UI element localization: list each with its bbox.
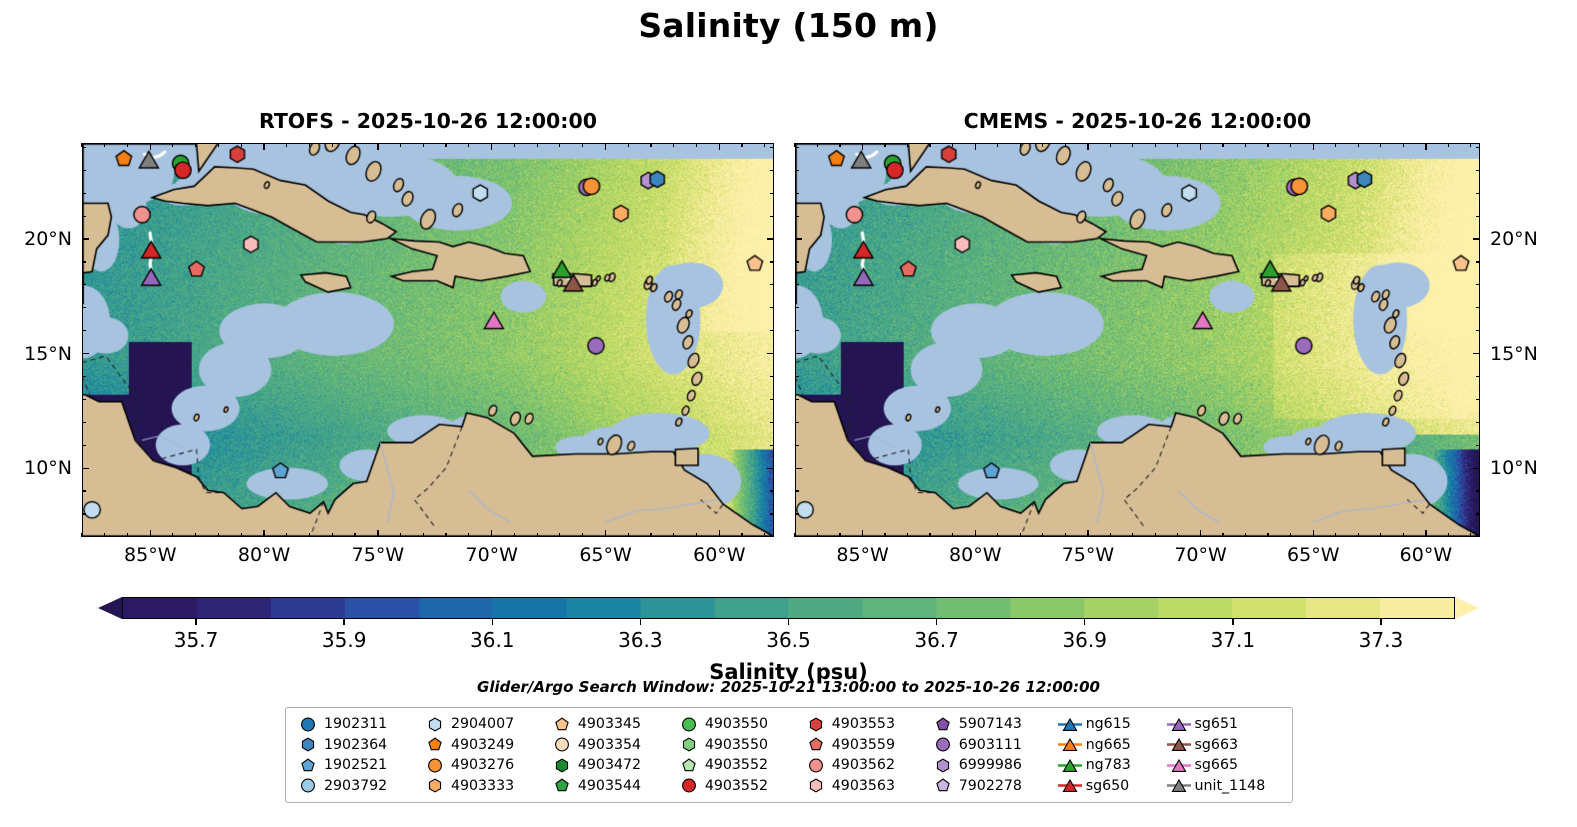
ytick-left	[795, 536, 799, 537]
xtick-label: 85°W	[836, 544, 888, 566]
legend-item[interactable]: 4903544	[549, 776, 659, 797]
colorbar-tick	[1380, 619, 1381, 625]
legend-item-label: 6903111	[956, 737, 1022, 753]
xtick-top	[172, 143, 173, 147]
circle-marker-icon	[422, 756, 448, 775]
legend-item[interactable]: 4903550	[676, 735, 786, 756]
legend-item[interactable]: 4903552	[676, 755, 786, 776]
hexagon-marker-icon	[422, 776, 448, 795]
legend-item[interactable]: 6999986	[930, 755, 1040, 776]
legend-item-label: 4903552	[702, 778, 768, 794]
ytick-right	[770, 330, 774, 331]
legend-item-label: 5907143	[956, 716, 1022, 732]
xtick-top	[1245, 143, 1246, 147]
circle-marker-icon	[676, 776, 702, 795]
xtick-bottom	[1290, 533, 1291, 537]
legend-item[interactable]: 4903552	[676, 776, 786, 797]
xtick-bottom	[332, 533, 333, 537]
legend-item[interactable]: 1902521	[295, 755, 405, 776]
ytick-right	[770, 536, 774, 537]
colorbar-tick	[788, 619, 789, 625]
figure-canvas: Salinity (150 m) RTOFS - 2025-10-26 12:0…	[0, 0, 1577, 827]
xtick-bottom	[1177, 533, 1178, 537]
xtick-top	[1020, 143, 1021, 147]
colorbar-under-arrow	[98, 597, 122, 619]
legend-item-label: 4903553	[829, 716, 895, 732]
legend-item[interactable]: 2903792	[295, 776, 405, 797]
xtick-top	[975, 143, 977, 150]
pentagon-marker-icon	[295, 756, 321, 775]
ytick-right	[767, 238, 774, 240]
circle-marker-icon	[803, 756, 829, 775]
xtick-top	[400, 143, 401, 147]
colorbar-tick	[343, 619, 344, 625]
ytick-right	[1476, 216, 1480, 217]
legend-item[interactable]: 7902278	[930, 776, 1040, 797]
ytick-left	[82, 422, 86, 423]
pentagon-marker-icon	[549, 715, 575, 734]
xtick-bottom	[559, 533, 560, 537]
ytick-label: 10°N	[0, 457, 72, 479]
legend-item-label: unit_1148	[1192, 778, 1266, 794]
legend-item[interactable]: 4903354	[549, 735, 659, 756]
ytick-right	[770, 513, 774, 514]
ytick-right	[1476, 399, 1480, 400]
legend-item[interactable]: 2904007	[422, 714, 532, 735]
ytick-right	[770, 193, 774, 194]
xtick-bottom	[997, 533, 998, 537]
xtick-bottom	[628, 533, 629, 537]
circle-marker-icon	[295, 715, 321, 734]
xtick-bottom	[650, 533, 651, 537]
xtick-top	[263, 143, 265, 150]
legend-item-label: 1902521	[321, 757, 387, 773]
legend-item[interactable]: 4903345	[549, 714, 659, 735]
ytick-left	[82, 307, 86, 308]
xtick-label: 60°W	[693, 544, 745, 566]
ytick-left	[795, 330, 799, 331]
triangle-marker-icon	[1166, 715, 1192, 734]
ytick-left	[82, 353, 89, 355]
ytick-left	[795, 468, 802, 470]
xtick-label: 80°W	[949, 544, 1001, 566]
legend-item[interactable]: sg665	[1166, 755, 1283, 776]
xtick-top	[839, 143, 840, 147]
legend-item-label: 7902278	[956, 778, 1022, 794]
xtick-top	[445, 143, 446, 147]
xtick-label: 75°W	[352, 544, 404, 566]
legend-item-label: sg663	[1192, 737, 1238, 753]
hexagon-marker-icon	[803, 715, 829, 734]
xtick-top	[1200, 143, 1202, 150]
legend-item-label: 1902311	[321, 716, 387, 732]
xtick-top	[1380, 143, 1381, 147]
xtick-label: 60°W	[1400, 544, 1452, 566]
legend-item[interactable]: sg650	[1057, 776, 1149, 797]
ytick-right	[1473, 468, 1480, 470]
xtick-bottom	[673, 533, 674, 537]
ytick-label: 10°N	[1490, 457, 1538, 479]
colorbar-tick	[195, 619, 196, 625]
legend-item[interactable]: 4903276	[422, 755, 532, 776]
legend-item[interactable]: 4903333	[422, 776, 532, 797]
circle-marker-icon	[549, 735, 575, 754]
xtick-top	[696, 143, 697, 147]
hexagon-marker-icon	[422, 715, 448, 734]
ytick-left	[795, 422, 799, 423]
legend-item[interactable]: ng665	[1057, 735, 1149, 756]
xtick-bottom	[582, 533, 583, 537]
legend-item[interactable]: unit_1148	[1166, 776, 1283, 797]
triangle-marker-icon	[1166, 776, 1192, 795]
legend-item-label: 4903563	[829, 778, 895, 794]
xtick-bottom	[468, 533, 469, 537]
legend-item-label: 4903562	[829, 757, 895, 773]
xtick-top	[741, 143, 742, 147]
ytick-left	[82, 445, 86, 446]
legend-item-label: 4903550	[702, 716, 768, 732]
circle-marker-icon	[930, 735, 956, 754]
colorbar-tick-label: 36.9	[1062, 628, 1107, 652]
colorbar-tick-label: 35.7	[174, 628, 219, 652]
xtick-bottom	[127, 533, 128, 537]
pentagon-marker-icon	[930, 715, 956, 734]
colorbar-tick	[1084, 619, 1085, 625]
legend-item[interactable]: 5907143	[930, 714, 1040, 735]
xtick-top	[1358, 143, 1359, 147]
colorbar-gradient	[122, 597, 1455, 619]
ytick-right	[770, 170, 774, 171]
colorbar-tick	[1232, 619, 1233, 625]
xtick-label: 65°W	[579, 544, 631, 566]
ytick-right	[770, 445, 774, 446]
legend-item[interactable]: 4903559	[803, 735, 913, 756]
xtick-top	[377, 143, 379, 150]
legend-item[interactable]: 4903562	[803, 755, 913, 776]
xtick-bottom	[218, 533, 219, 537]
legend-item-label: 6999986	[956, 757, 1022, 773]
xtick-top	[559, 143, 560, 147]
pentagon-marker-icon	[803, 735, 829, 754]
ytick-left	[82, 399, 86, 400]
panel-title-rtofs: RTOFS - 2025-10-26 12:00:00	[82, 109, 774, 133]
ytick-right	[770, 284, 774, 285]
xtick-bottom	[952, 533, 953, 537]
ytick-left	[82, 490, 86, 491]
xtick-top	[884, 143, 885, 147]
triangle-marker-icon	[1166, 735, 1192, 754]
xtick-bottom	[1042, 533, 1043, 537]
xtick-top	[1087, 143, 1089, 150]
ytick-right	[1476, 376, 1480, 377]
legend-item-label: 4903345	[575, 716, 641, 732]
legend-item[interactable]: 6903111	[930, 735, 1040, 756]
xtick-bottom	[104, 533, 105, 537]
legend-item[interactable]: ng615	[1057, 714, 1149, 735]
ytick-right	[1476, 307, 1480, 308]
map-axes-cmems[interactable]	[795, 143, 1480, 537]
ytick-left	[82, 513, 86, 514]
circle-marker-icon	[676, 715, 702, 734]
triangle-marker-icon	[1166, 756, 1192, 775]
ytick-left	[795, 261, 799, 262]
salinity-field-rtofs	[83, 144, 773, 536]
ytick-right	[1476, 536, 1480, 537]
xtick-bottom	[1087, 530, 1089, 537]
legend-item[interactable]: 4903550	[676, 714, 786, 735]
xtick-top	[764, 143, 765, 147]
ytick-right	[1476, 490, 1480, 491]
xtick-top	[1267, 143, 1268, 147]
legend-item[interactable]: 1902364	[295, 735, 405, 756]
xtick-top	[241, 143, 242, 147]
xtick-bottom	[1155, 533, 1156, 537]
legend-item-label: 4903276	[448, 757, 514, 773]
triangle-marker-icon	[1057, 776, 1083, 795]
xtick-bottom	[150, 530, 152, 537]
xtick-label: 85°W	[124, 544, 176, 566]
xtick-top	[309, 143, 310, 147]
legend-item[interactable]: sg663	[1166, 735, 1283, 756]
xtick-bottom	[1335, 533, 1336, 537]
colorbar-tick-label: 37.3	[1359, 628, 1404, 652]
xtick-top	[104, 143, 105, 147]
xtick-bottom	[817, 533, 818, 537]
xtick-bottom	[309, 533, 310, 537]
ytick-left	[795, 193, 799, 194]
hexagon-marker-icon	[549, 756, 575, 775]
legend-item-label: 1902364	[321, 737, 387, 753]
legend-item[interactable]: 4903553	[803, 714, 913, 735]
pentagon-marker-icon	[930, 776, 956, 795]
xtick-top	[1403, 143, 1404, 147]
xtick-label: 70°W	[466, 544, 518, 566]
legend-item-label: 4903552	[702, 757, 768, 773]
xtick-bottom	[172, 533, 173, 537]
ytick-right	[770, 399, 774, 400]
xtick-bottom	[1448, 533, 1449, 537]
ytick-right	[1473, 238, 1480, 240]
hexagon-marker-icon	[803, 776, 829, 795]
ytick-right	[1476, 422, 1480, 423]
figure-title: Salinity (150 m)	[0, 6, 1577, 45]
xtick-label: 70°W	[1174, 544, 1226, 566]
ytick-left	[795, 399, 799, 400]
xtick-top	[817, 143, 818, 147]
xtick-bottom	[423, 533, 424, 537]
hexagon-marker-icon	[676, 735, 702, 754]
xtick-top	[1335, 143, 1336, 147]
legend-item-label: 4903249	[448, 737, 514, 753]
legend-grid: 1902311290400749033454903550490355359071…	[295, 714, 1283, 796]
xtick-top	[150, 143, 152, 150]
ytick-right	[770, 376, 774, 377]
xtick-bottom	[400, 533, 401, 537]
xtick-label: 80°W	[238, 544, 290, 566]
xtick-bottom	[929, 533, 930, 537]
ytick-right	[1476, 147, 1480, 148]
ytick-left	[795, 307, 799, 308]
xtick-top	[286, 143, 287, 147]
xtick-bottom	[514, 533, 515, 537]
xtick-bottom	[195, 533, 196, 537]
ytick-right	[770, 216, 774, 217]
ytick-right	[1476, 445, 1480, 446]
xtick-bottom	[907, 533, 908, 537]
ytick-left	[82, 216, 86, 217]
ytick-left	[82, 238, 89, 240]
xtick-bottom	[1222, 533, 1223, 537]
ytick-left	[795, 284, 799, 285]
hexagon-marker-icon	[930, 756, 956, 775]
xtick-top	[1155, 143, 1156, 147]
legend-item[interactable]: 4903472	[549, 755, 659, 776]
colorbar-tick-label: 36.1	[470, 628, 515, 652]
ytick-right	[770, 490, 774, 491]
xtick-bottom	[884, 533, 885, 537]
colorbar-tick	[640, 619, 641, 625]
ytick-right	[1476, 284, 1480, 285]
legend-item[interactable]: 4903563	[803, 776, 913, 797]
colorbar-tick-label: 36.7	[914, 628, 959, 652]
xtick-label: 75°W	[1062, 544, 1114, 566]
xtick-top	[719, 143, 721, 150]
xtick-bottom	[719, 530, 721, 537]
xtick-bottom	[764, 533, 765, 537]
xtick-bottom	[1403, 533, 1404, 537]
ytick-right	[770, 147, 774, 148]
ytick-left	[795, 170, 799, 171]
xtick-bottom	[1313, 530, 1315, 537]
ytick-left	[82, 193, 86, 194]
legend-item-label: 4903472	[575, 757, 641, 773]
legend-item[interactable]: 1902311	[295, 714, 405, 735]
xtick-top	[1290, 143, 1291, 147]
ytick-label: 20°N	[1490, 228, 1538, 250]
xtick-bottom	[1110, 533, 1111, 537]
salinity-field-cmems	[796, 144, 1479, 536]
xtick-top	[862, 143, 864, 150]
circle-marker-icon	[295, 776, 321, 795]
xtick-top	[1448, 143, 1449, 147]
xtick-top	[218, 143, 219, 147]
xtick-top	[952, 143, 953, 147]
xtick-bottom	[241, 533, 242, 537]
ytick-left	[795, 216, 799, 217]
xtick-top	[1313, 143, 1315, 150]
xtick-top	[929, 143, 930, 147]
xtick-bottom	[696, 533, 697, 537]
legend-item[interactable]: ng783	[1057, 755, 1149, 776]
xtick-top	[1177, 143, 1178, 147]
xtick-top	[332, 143, 333, 147]
colorbar-tick-label: 36.3	[618, 628, 663, 652]
xtick-top	[1425, 143, 1427, 150]
xtick-bottom	[862, 530, 864, 537]
xtick-bottom	[354, 533, 355, 537]
legend-item-label: 4903354	[575, 737, 641, 753]
xtick-bottom	[839, 533, 840, 537]
xtick-bottom	[975, 530, 977, 537]
xtick-top	[537, 143, 538, 147]
colorbar-tick	[492, 619, 493, 625]
ytick-left	[82, 170, 86, 171]
xtick-bottom	[263, 530, 265, 537]
colorbar-tick-label: 35.9	[322, 628, 367, 652]
ytick-left	[82, 536, 86, 537]
ytick-left	[82, 468, 89, 470]
ytick-left	[82, 330, 86, 331]
xtick-bottom	[286, 533, 287, 537]
ytick-left	[795, 376, 799, 377]
hexagon-marker-icon	[295, 735, 321, 754]
xtick-top	[423, 143, 424, 147]
xtick-label: 65°W	[1287, 544, 1339, 566]
xtick-top	[354, 143, 355, 147]
xtick-top	[1110, 143, 1111, 147]
xtick-bottom	[741, 533, 742, 537]
legend-item[interactable]: 4903249	[422, 735, 532, 756]
legend-item-label: sg650	[1083, 778, 1129, 794]
xtick-bottom	[491, 530, 493, 537]
xtick-bottom	[1065, 533, 1066, 537]
panel-title-cmems: CMEMS - 2025-10-26 12:00:00	[795, 109, 1480, 133]
map-axes-rtofs[interactable]	[82, 143, 774, 537]
ytick-left	[795, 513, 799, 514]
legend-box: 1902311290400749033454903550490355359071…	[285, 707, 1293, 803]
pentagon-marker-icon	[549, 776, 575, 795]
ytick-label: 20°N	[0, 228, 72, 250]
xtick-bottom	[445, 533, 446, 537]
ytick-right	[1476, 261, 1480, 262]
legend-item-label: sg651	[1192, 716, 1238, 732]
xtick-top	[468, 143, 469, 147]
colorbar-tick	[936, 619, 937, 625]
xtick-top	[514, 143, 515, 147]
xtick-top	[582, 143, 583, 147]
ytick-label: 15°N	[1490, 343, 1538, 365]
ytick-right	[1476, 193, 1480, 194]
xtick-top	[997, 143, 998, 147]
ytick-left	[82, 284, 86, 285]
xtick-top	[195, 143, 196, 147]
legend-item-label: 4903559	[829, 737, 895, 753]
ytick-left	[795, 445, 799, 446]
xtick-top	[127, 143, 128, 147]
ytick-label: 15°N	[0, 343, 72, 365]
legend-item-label: 4903550	[702, 737, 768, 753]
xtick-top	[907, 143, 908, 147]
ytick-left	[82, 376, 86, 377]
ytick-right	[1473, 353, 1480, 355]
ytick-left	[82, 147, 86, 148]
colorbar-over-arrow	[1455, 597, 1479, 619]
xtick-bottom	[1200, 530, 1202, 537]
ytick-left	[795, 147, 799, 148]
pentagon-marker-icon	[422, 735, 448, 754]
search-window-text: Glider/Argo Search Window: 2025-10-21 13…	[0, 678, 1577, 696]
xtick-top	[650, 143, 651, 147]
colorbar-tick-label: 36.5	[766, 628, 811, 652]
xtick-bottom	[377, 530, 379, 537]
legend-item[interactable]: sg651	[1166, 714, 1283, 735]
xtick-bottom	[1132, 533, 1133, 537]
ytick-right	[770, 422, 774, 423]
xtick-bottom	[1358, 533, 1359, 537]
colorbar-tick-label: 37.1	[1211, 628, 1256, 652]
xtick-bottom	[1380, 533, 1381, 537]
legend-item-label: ng615	[1083, 716, 1131, 732]
